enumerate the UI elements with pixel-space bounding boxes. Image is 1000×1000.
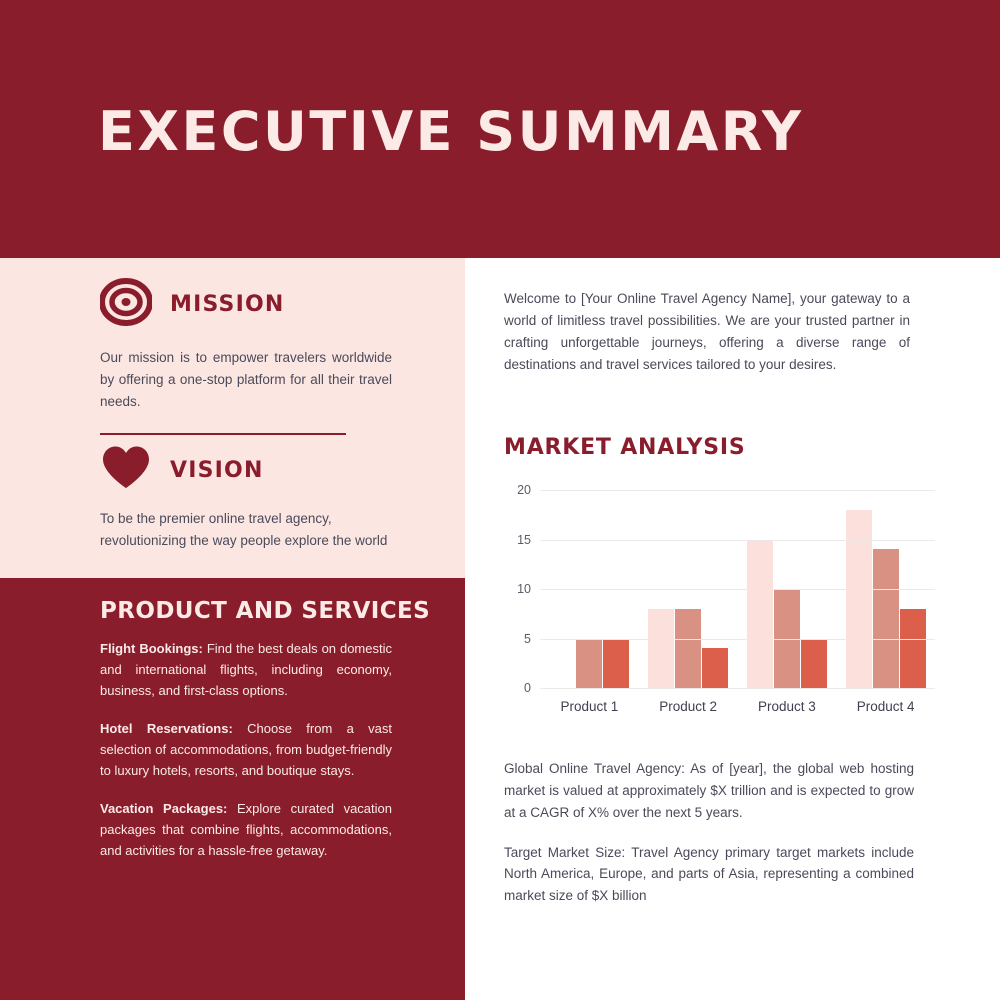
chart-x-label: Product 4 xyxy=(836,699,935,714)
vision-body: To be the premier online travel agency, … xyxy=(100,508,392,552)
left-column: MISSION Our mission is to empower travel… xyxy=(0,258,465,1000)
chart-x-axis-labels: Product 1Product 2Product 3Product 4 xyxy=(540,699,935,714)
target-icon xyxy=(100,276,152,333)
mission-vision-divider xyxy=(100,433,346,435)
chart-bar xyxy=(576,639,602,689)
market-note: Global Online Travel Agency: As of [year… xyxy=(504,758,914,824)
chart-x-label: Product 2 xyxy=(639,699,738,714)
chart-y-tick: 10 xyxy=(517,582,531,596)
mission-vision-panel: MISSION Our mission is to empower travel… xyxy=(0,258,465,578)
market-note: Target Market Size: Travel Agency primar… xyxy=(504,842,914,908)
vision-block: VISION To be the premier online travel a… xyxy=(100,445,392,552)
right-column: Welcome to [Your Online Travel Agency Na… xyxy=(465,258,1000,1000)
chart-bar xyxy=(900,609,926,688)
chart-gridline xyxy=(540,540,935,541)
mission-heading: MISSION xyxy=(100,276,392,333)
product-item-label: Hotel Reservations: xyxy=(100,721,233,736)
chart-x-label: Product 1 xyxy=(540,699,639,714)
vision-heading: VISION xyxy=(100,445,392,496)
product-item-label: Flight Bookings: xyxy=(100,641,203,656)
chart-gridline xyxy=(540,688,935,689)
product-item: Vacation Packages: Explore curated vacat… xyxy=(100,798,392,861)
mission-block: MISSION Our mission is to empower travel… xyxy=(100,276,392,413)
chart-bar xyxy=(846,510,872,688)
chart-y-tick: 20 xyxy=(517,483,531,497)
chart-bar xyxy=(702,648,728,688)
product-item: Flight Bookings: Find the best deals on … xyxy=(100,638,392,701)
products-panel: PRODUCT AND SERVICES Flight Bookings: Fi… xyxy=(0,578,465,1000)
chart-x-label: Product 3 xyxy=(738,699,837,714)
executive-summary-page: EXECUTIVE SUMMARY MISSION Our mission is… xyxy=(0,0,1000,1000)
header-banner: EXECUTIVE SUMMARY xyxy=(0,0,1000,258)
chart-gridline xyxy=(540,589,935,590)
chart-y-tick: 0 xyxy=(524,681,531,695)
market-analysis-title: MARKET ANALYSIS xyxy=(504,435,745,460)
chart-plot-area: 05101520 xyxy=(540,490,935,688)
chart-y-tick: 5 xyxy=(524,632,531,646)
chart-bar xyxy=(603,639,629,689)
page-title: EXECUTIVE SUMMARY xyxy=(98,100,804,163)
heart-icon xyxy=(100,445,152,496)
mission-body: Our mission is to empower travelers worl… xyxy=(100,347,392,413)
market-notes: Global Online Travel Agency: As of [year… xyxy=(504,758,914,925)
product-item-label: Vacation Packages: xyxy=(100,801,227,816)
chart-gridline xyxy=(540,639,935,640)
chart-y-tick: 15 xyxy=(517,533,531,547)
intro-paragraph: Welcome to [Your Online Travel Agency Na… xyxy=(504,288,910,377)
chart-bar xyxy=(873,549,899,688)
chart-bar xyxy=(675,609,701,688)
products-list: Flight Bookings: Find the best deals on … xyxy=(100,638,392,878)
product-item: Hotel Reservations: Choose from a vast s… xyxy=(100,718,392,781)
market-analysis-chart: 05101520 Product 1Product 2Product 3Prod… xyxy=(495,480,945,720)
chart-gridline xyxy=(540,490,935,491)
chart-bar xyxy=(747,540,773,689)
chart-bar xyxy=(648,609,674,688)
mission-title: MISSION xyxy=(170,292,284,317)
products-title: PRODUCT AND SERVICES xyxy=(100,598,430,624)
chart-bar xyxy=(801,639,827,689)
vision-title: VISION xyxy=(170,458,264,483)
